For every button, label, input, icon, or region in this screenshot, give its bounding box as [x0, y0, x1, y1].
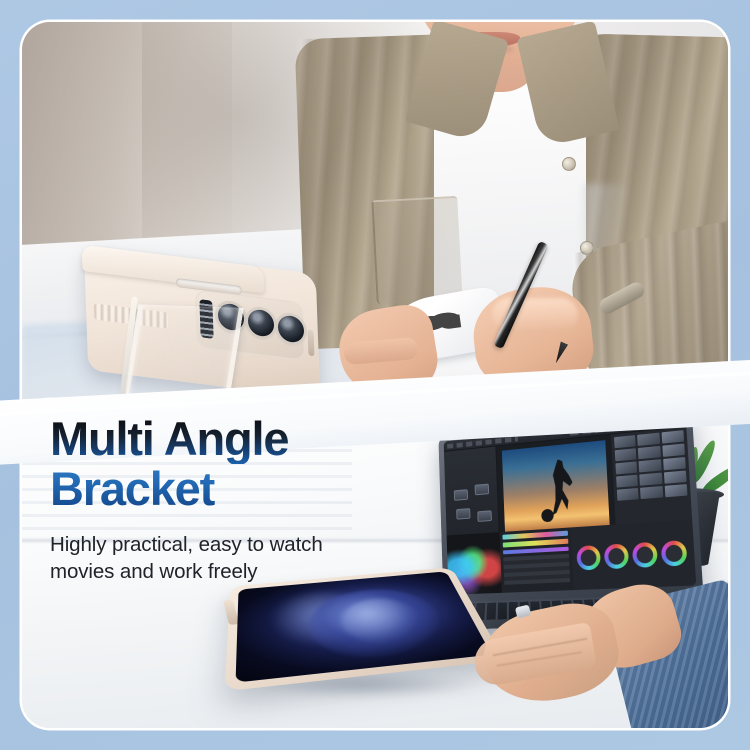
chest-pocket [371, 196, 462, 304]
media-thumbnail [639, 459, 662, 472]
node [477, 510, 492, 522]
color-wheel-icon [604, 543, 629, 569]
media-thumbnail [664, 471, 687, 484]
media-thumbnail [614, 435, 636, 448]
video-clip-runner-at-sunset [502, 440, 610, 538]
editor-color-wheels [571, 520, 697, 591]
product-poster: Multi Angle Bracket Highly practical, ea… [0, 0, 750, 750]
media-thumbnail [615, 448, 637, 461]
marketing-copy: Multi Angle Bracket Highly practical, ea… [50, 414, 470, 585]
editor-timeline [500, 527, 574, 592]
runner-silhouette [547, 458, 574, 515]
foldable-screen [236, 571, 492, 682]
media-thumbnail [662, 444, 685, 457]
subheadline-line-2: movies and work freely [50, 558, 470, 585]
media-thumbnail [664, 484, 687, 497]
timeline-tracks [503, 554, 570, 585]
media-thumbnail [616, 475, 638, 488]
page-title: Multi Angle Bracket [50, 414, 470, 515]
side-button [308, 330, 315, 357]
headline-line-2: Bracket [50, 464, 470, 514]
top-scene-panel [22, 22, 728, 426]
media-thumbnail [661, 430, 684, 444]
node [475, 484, 490, 496]
media-thumbnail [617, 488, 639, 501]
timeline-clip [503, 539, 569, 548]
color-wheel-icon [661, 540, 688, 567]
subheadline-line-1: Highly practical, easy to watch [50, 531, 470, 558]
ball-silhouette [541, 508, 554, 522]
subheadline: Highly practical, easy to watch movies a… [50, 531, 470, 586]
media-thumbnail [640, 473, 663, 486]
color-wheel-icon [632, 542, 658, 568]
media-thumbnail [637, 433, 659, 446]
video-editor-screen [444, 415, 697, 594]
media-thumbnail [663, 457, 686, 470]
media-thumbnail [640, 486, 663, 499]
color-wheel-icon [576, 545, 601, 571]
headline-line-1: Multi Angle [50, 414, 470, 464]
shirt-button [562, 157, 576, 171]
timeline-clip [503, 547, 569, 555]
media-thumbnail [638, 446, 660, 459]
media-thumbnail [615, 461, 637, 474]
